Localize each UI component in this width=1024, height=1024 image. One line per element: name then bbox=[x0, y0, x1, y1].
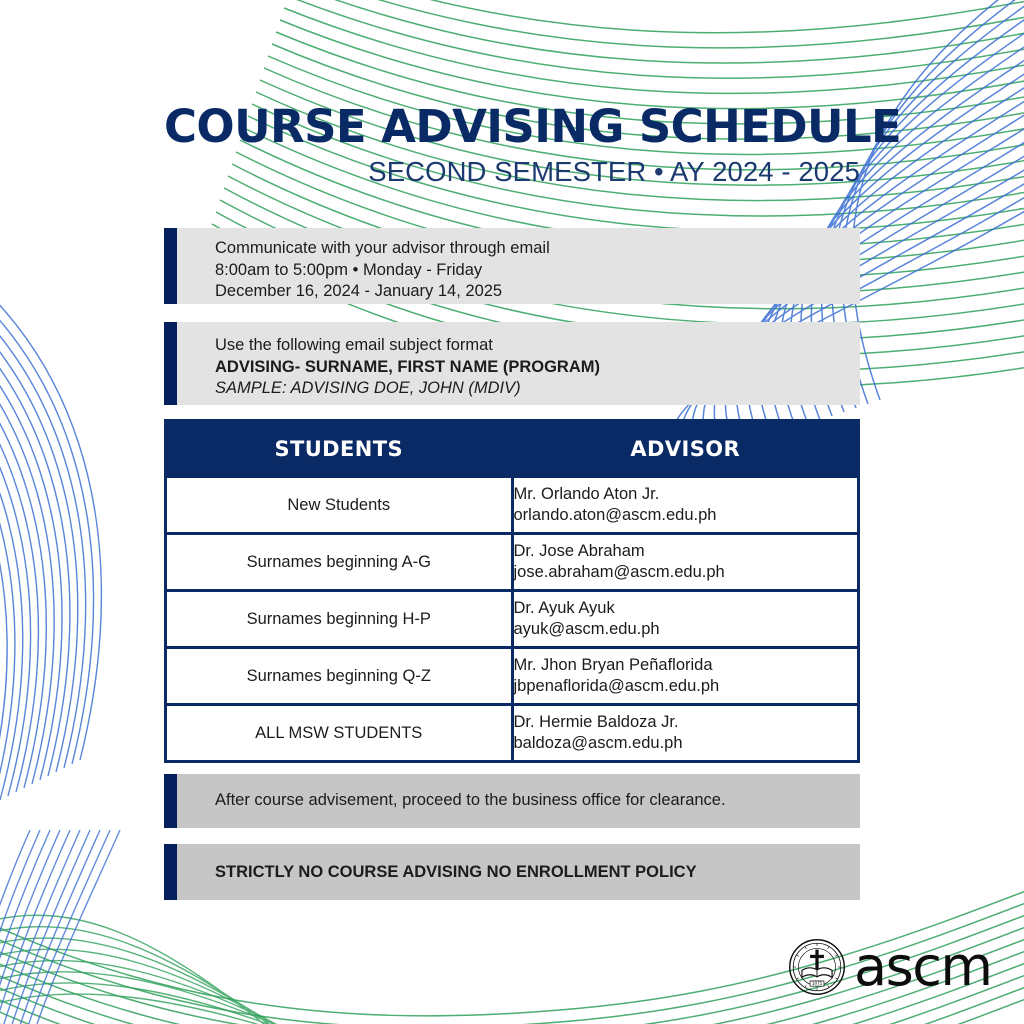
cell-advisor: Mr. Jhon Bryan Peñaflorida jbpenaflorida… bbox=[512, 648, 859, 705]
subject-line-2: ADVISING- SURNAME, FIRST NAME (PROGRAM) bbox=[215, 357, 860, 379]
accent-bar bbox=[164, 228, 177, 304]
advisor-name: Dr. Jose Abraham bbox=[514, 541, 858, 562]
table-row: New Students Mr. Orlando Aton Jr. orland… bbox=[166, 477, 859, 534]
page-subtitle: SECOND SEMESTER • AY 2024 - 2025 bbox=[164, 158, 860, 186]
advisor-email[interactable]: ayuk@ascm.edu.ph bbox=[514, 619, 858, 640]
communicate-line-3: December 16, 2024 - January 14, 2025 bbox=[215, 281, 860, 303]
advisor-email[interactable]: orlando.aton@ascm.edu.ph bbox=[514, 505, 858, 526]
communicate-line-2: 8:00am to 5:00pm • Monday - Friday bbox=[215, 260, 860, 282]
info-box-communicate: Communicate with your advisor through em… bbox=[164, 228, 860, 304]
subject-line-1: Use the following email subject format bbox=[215, 335, 860, 357]
info-box-communicate-body: Communicate with your advisor through em… bbox=[177, 228, 860, 304]
ascm-wordmark: ascm bbox=[854, 940, 992, 994]
ascm-circular-seal-icon: 1975 bbox=[788, 938, 846, 996]
info-box-policy-body: STRICTLY NO COURSE ADVISING NO ENROLLMEN… bbox=[177, 844, 860, 900]
table-row: Surnames beginning A-G Dr. Jose Abraham … bbox=[166, 534, 859, 591]
cell-students: Surnames beginning A-G bbox=[166, 534, 513, 591]
cell-advisor: Dr. Hermie Baldoza Jr. baldoza@ascm.edu.… bbox=[512, 705, 859, 762]
accent-bar bbox=[164, 322, 177, 405]
column-header-advisor: ADVISOR bbox=[512, 421, 859, 477]
table-row: ALL MSW STUDENTS Dr. Hermie Baldoza Jr. … bbox=[166, 705, 859, 762]
advisor-name: Mr. Orlando Aton Jr. bbox=[514, 484, 858, 505]
cell-students: New Students bbox=[166, 477, 513, 534]
cell-students: Surnames beginning Q-Z bbox=[166, 648, 513, 705]
poster-content: COURSE ADVISING SCHEDULE SECOND SEMESTER… bbox=[0, 0, 1024, 1024]
info-box-policy: STRICTLY NO COURSE ADVISING NO ENROLLMEN… bbox=[164, 844, 860, 900]
table-header-row: STUDENTS ADVISOR bbox=[166, 421, 859, 477]
cell-students: Surnames beginning H-P bbox=[166, 591, 513, 648]
cell-advisor: Dr. Jose Abraham jose.abraham@ascm.edu.p… bbox=[512, 534, 859, 591]
ascm-logo: 1975 ascm bbox=[788, 938, 992, 996]
info-box-subject-format: Use the following email subject format A… bbox=[164, 322, 860, 405]
page-title: COURSE ADVISING SCHEDULE bbox=[164, 104, 860, 149]
advisor-email[interactable]: jbpenaflorida@ascm.edu.ph bbox=[514, 676, 858, 697]
info-box-subject-format-body: Use the following email subject format A… bbox=[177, 322, 860, 405]
info-box-after-advisement: After course advisement, proceed to the … bbox=[164, 774, 860, 828]
page-title-block: COURSE ADVISING SCHEDULE SECOND SEMESTER… bbox=[164, 104, 860, 186]
advisor-name: Dr. Hermie Baldoza Jr. bbox=[514, 712, 858, 733]
table-row: Surnames beginning H-P Dr. Ayuk Ayuk ayu… bbox=[166, 591, 859, 648]
advisor-name: Mr. Jhon Bryan Peñaflorida bbox=[514, 655, 858, 676]
subject-line-3: SAMPLE: ADVISING DOE, JOHN (MDIV) bbox=[215, 378, 860, 400]
seal-year-text: 1975 bbox=[812, 981, 823, 986]
advisor-email[interactable]: jose.abraham@ascm.edu.ph bbox=[514, 562, 858, 583]
table-row: Surnames beginning Q-Z Mr. Jhon Bryan Pe… bbox=[166, 648, 859, 705]
cell-students: ALL MSW STUDENTS bbox=[166, 705, 513, 762]
accent-bar bbox=[164, 774, 177, 828]
policy-line-1: STRICTLY NO COURSE ADVISING NO ENROLLMEN… bbox=[215, 862, 860, 884]
advisor-name: Dr. Ayuk Ayuk bbox=[514, 598, 858, 619]
cell-advisor: Dr. Ayuk Ayuk ayuk@ascm.edu.ph bbox=[512, 591, 859, 648]
column-header-students: STUDENTS bbox=[166, 421, 513, 477]
cell-advisor: Mr. Orlando Aton Jr. orlando.aton@ascm.e… bbox=[512, 477, 859, 534]
accent-bar bbox=[164, 844, 177, 900]
advisor-email[interactable]: baldoza@ascm.edu.ph bbox=[514, 733, 858, 754]
communicate-line-1: Communicate with your advisor through em… bbox=[215, 238, 860, 260]
info-box-after-advisement-body: After course advisement, proceed to the … bbox=[177, 774, 860, 828]
advising-schedule-table: STUDENTS ADVISOR New Students Mr. Orland… bbox=[164, 419, 860, 763]
after-line-1: After course advisement, proceed to the … bbox=[215, 790, 860, 812]
